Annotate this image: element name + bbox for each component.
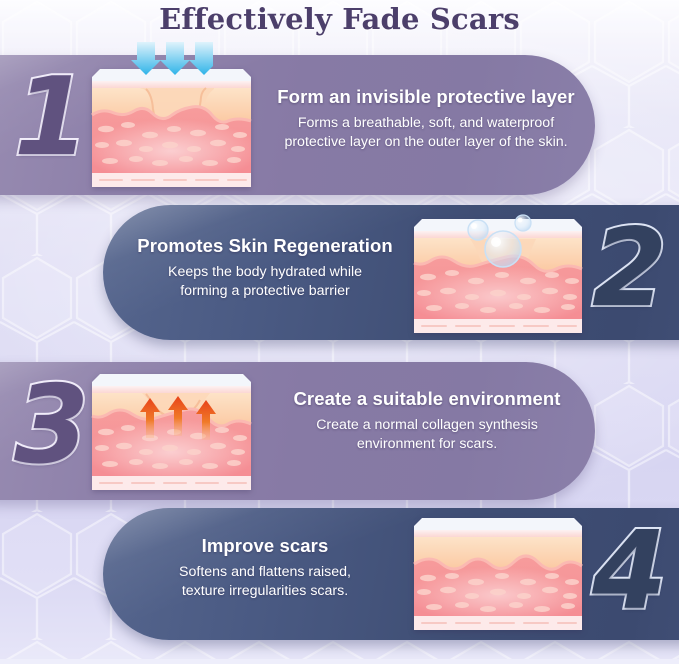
step-text-2: Promotes Skin Regeneration Keeps the bod…	[112, 235, 418, 300]
step-number-1: 1	[14, 64, 89, 172]
step-heading-3: Create a suitable environment	[262, 388, 592, 410]
down-arrows-icon	[131, 42, 213, 76]
page-title: Effectively Fade Scars	[0, 0, 679, 40]
skin-cross-section-illustration-1	[88, 63, 255, 191]
skin-cross-section-illustration-2	[410, 213, 586, 337]
step-text-1: Form an invisible protective layer Forms…	[258, 86, 594, 151]
step-heading-1: Form an invisible protective layer	[258, 86, 594, 108]
step-heading-2: Promotes Skin Regeneration	[112, 235, 418, 257]
step-body-3: Create a normal collagen synthesis envir…	[262, 416, 592, 453]
step-number-2: 2	[592, 215, 667, 323]
step-body-1: Forms a breathable, soft, and waterproof…	[258, 114, 594, 151]
up-arrows-icon	[140, 396, 216, 440]
step-heading-4: Improve scars	[112, 535, 418, 557]
step-number-3: 3	[14, 372, 89, 480]
step-body-3-line2: environment for scars.	[262, 435, 592, 454]
skin-cross-section-illustration-3	[88, 368, 255, 496]
step-body-4: Softens and flattens raised, texture irr…	[112, 563, 418, 600]
step-body-4-line1: Softens and flattens raised,	[112, 563, 418, 582]
skin-cross-section-illustration-4	[410, 514, 586, 636]
step-body-1-line1: Forms a breathable, soft, and waterproof	[258, 114, 594, 133]
step-body-4-line2: texture irregularities scars.	[112, 582, 418, 601]
step-text-4: Improve scars Softens and flattens raise…	[112, 535, 418, 600]
step-body-1-line2: protective layer on the outer layer of t…	[258, 133, 594, 152]
step-body-2-line2: forming a protective barrier	[112, 282, 418, 301]
step-body-2-line1: Keeps the body hydrated while	[112, 263, 418, 282]
step-text-3: Create a suitable environment Create a n…	[262, 388, 592, 453]
step-number-4: 4	[592, 518, 667, 626]
step-body-2: Keeps the body hydrated while forming a …	[112, 263, 418, 300]
step-body-3-line1: Create a normal collagen synthesis	[262, 416, 592, 435]
